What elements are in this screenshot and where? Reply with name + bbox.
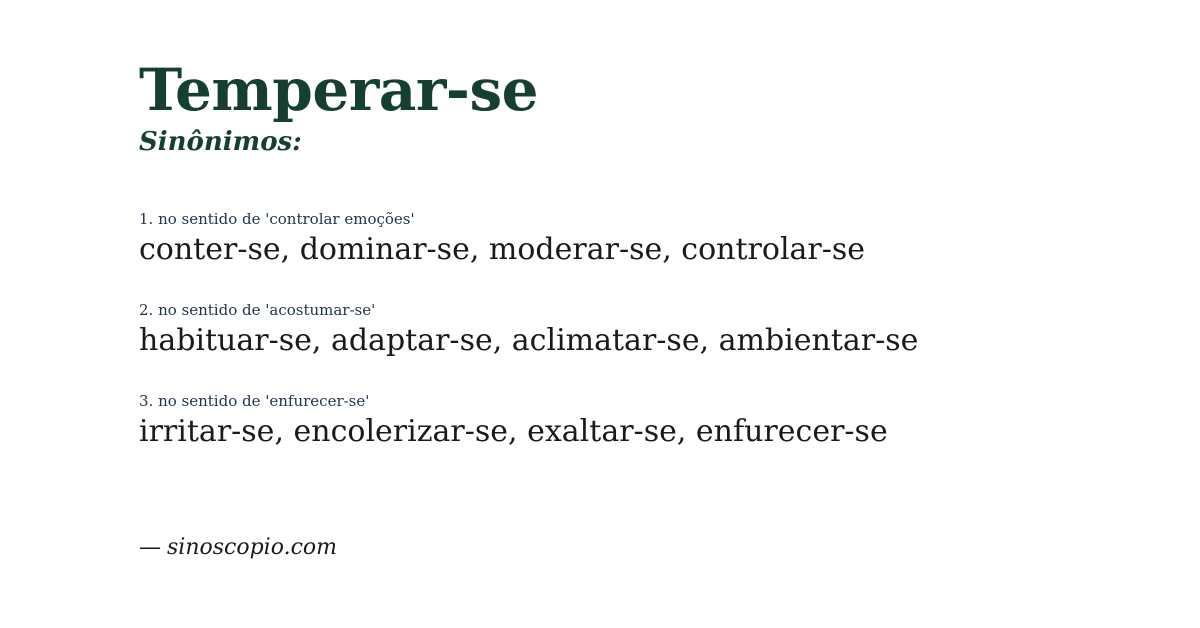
sense-label: 2. no sentido de 'acostumar-se' — [139, 300, 1139, 320]
synonym-card: Temperar-se Sinônimos: 1. no sentido de … — [0, 0, 1200, 628]
card-header: Temperar-se Sinônimos: — [139, 58, 538, 158]
sense-label: 1. no sentido de 'controlar emoções' — [139, 209, 1139, 229]
sense-label: 3. no sentido de 'enfurecer-se' — [139, 391, 1139, 411]
sense-list: 1. no sentido de 'controlar emoções' con… — [139, 209, 1139, 451]
sense-block: 1. no sentido de 'controlar emoções' con… — [139, 209, 1139, 269]
card-footer: —sinoscopio.com — [139, 533, 337, 563]
sense-block: 3. no sentido de 'enfurecer-se' irritar-… — [139, 391, 1139, 451]
source-name: sinoscopio.com — [167, 535, 337, 560]
page-title: Temperar-se — [139, 58, 538, 122]
sense-synonyms: habituar-se, adaptar-se, aclimatar-se, a… — [139, 322, 1139, 360]
sense-block: 2. no sentido de 'acostumar-se' habituar… — [139, 300, 1139, 360]
em-dash-icon: — — [139, 535, 167, 560]
sense-synonyms: irritar-se, encolerizar-se, exaltar-se, … — [139, 413, 1139, 451]
attribution: —sinoscopio.com — [139, 533, 337, 563]
sense-synonyms: conter-se, dominar-se, moderar-se, contr… — [139, 231, 1139, 269]
section-subtitle: Sinônimos: — [139, 126, 538, 158]
